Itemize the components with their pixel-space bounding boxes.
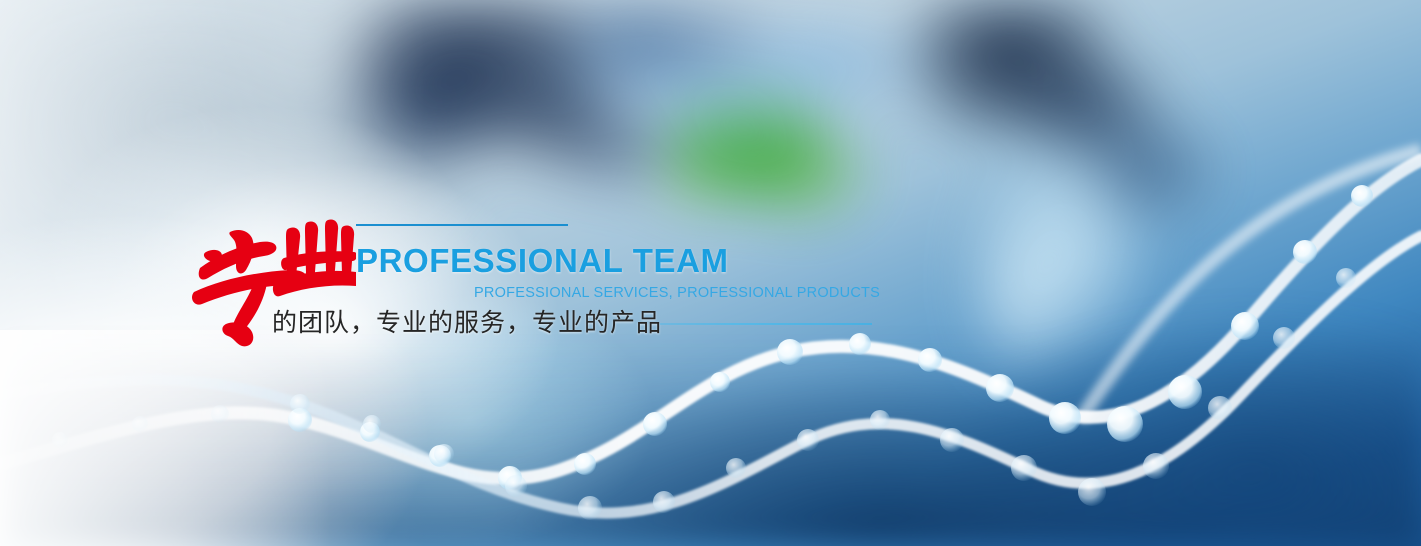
headline-rule-top (356, 224, 568, 226)
hero-banner: PROFESSIONAL TEAM PROFESSIONAL SERVICES,… (0, 0, 1421, 546)
banner-text-block: PROFESSIONAL TEAM PROFESSIONAL SERVICES,… (0, 0, 1421, 546)
tagline-rule-bottom (660, 323, 872, 325)
chinese-tagline: 的团队，专业的服务，专业的产品 (272, 308, 662, 338)
page-title: PROFESSIONAL TEAM (356, 244, 729, 277)
page-subtitle: PROFESSIONAL SERVICES, PROFESSIONAL PROD… (474, 286, 880, 301)
